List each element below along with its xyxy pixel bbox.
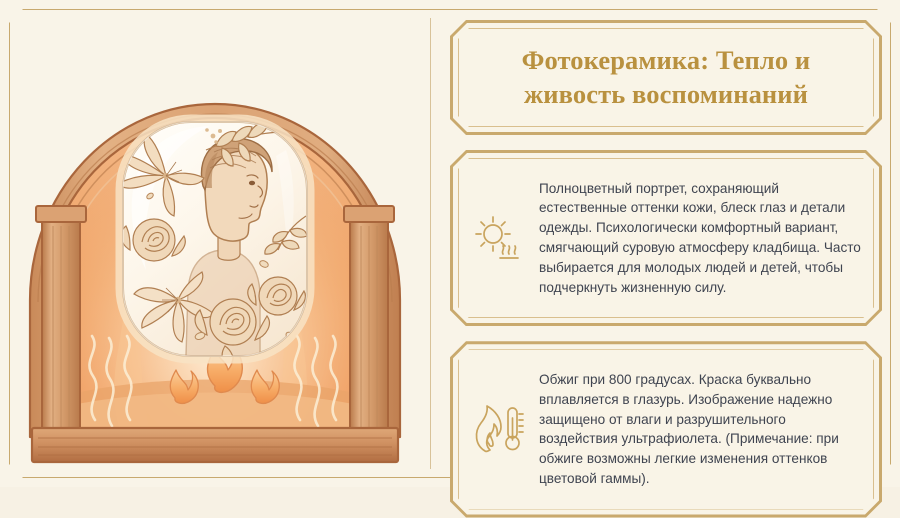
wooden-sill — [32, 428, 398, 462]
panel-divider — [430, 18, 431, 469]
illustration-panel — [0, 0, 430, 487]
porcelain-plaque — [118, 118, 311, 366]
feature-card-firing: Обжиг при 800 градусах. Краска буквально… — [450, 341, 882, 517]
photo-ceramic-kiln-illustration — [0, 0, 430, 487]
feature-card-portrait: Полноцветный портрет, сохраняющий естест… — [450, 150, 882, 326]
feature-text: Полноцветный портрет, сохраняющий естест… — [539, 179, 863, 298]
title-card: Фотокерамика: Тепло и живость воспоминан… — [450, 20, 882, 135]
infographic-root: Фотокерамика: Тепло и живость воспоминан… — [0, 0, 900, 487]
flame-and-thermometer-icon — [465, 397, 529, 461]
feature-text: Обжиг при 800 градусах. Краска буквально… — [539, 370, 863, 489]
page-title: Фотокерамика: Тепло и живость воспоминан… — [453, 44, 879, 112]
content-panel: Фотокерамика: Тепло и живость воспоминан… — [432, 0, 900, 487]
sun-with-heat-waves-icon — [465, 206, 529, 270]
